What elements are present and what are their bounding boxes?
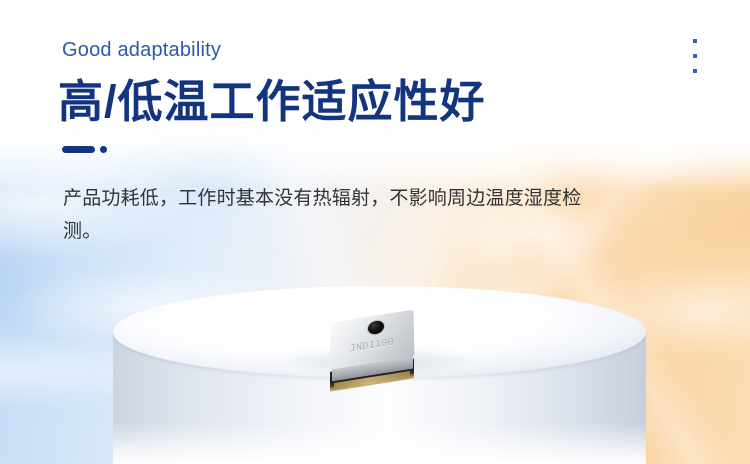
accent-bar — [62, 146, 95, 153]
sensor-module: JND1100 — [318, 313, 426, 389]
menu-dot-3 — [693, 69, 697, 73]
body-paragraph: 产品功耗低，工作时基本没有热辐射，不影响周边温度湿度检测。 — [63, 183, 593, 248]
page-title: 高/低温工作适应性好 — [58, 78, 486, 125]
more-vertical-icon[interactable] — [688, 39, 702, 73]
title-underline-accent — [62, 146, 107, 153]
eyebrow-text: Good adaptability — [62, 39, 221, 62]
menu-dot-2 — [693, 54, 697, 58]
product-feature-banner: JND1100 Good adaptability 高/低温工作适应性好 产品功… — [0, 0, 750, 464]
accent-dot — [100, 146, 107, 153]
menu-dot-1 — [693, 39, 697, 43]
